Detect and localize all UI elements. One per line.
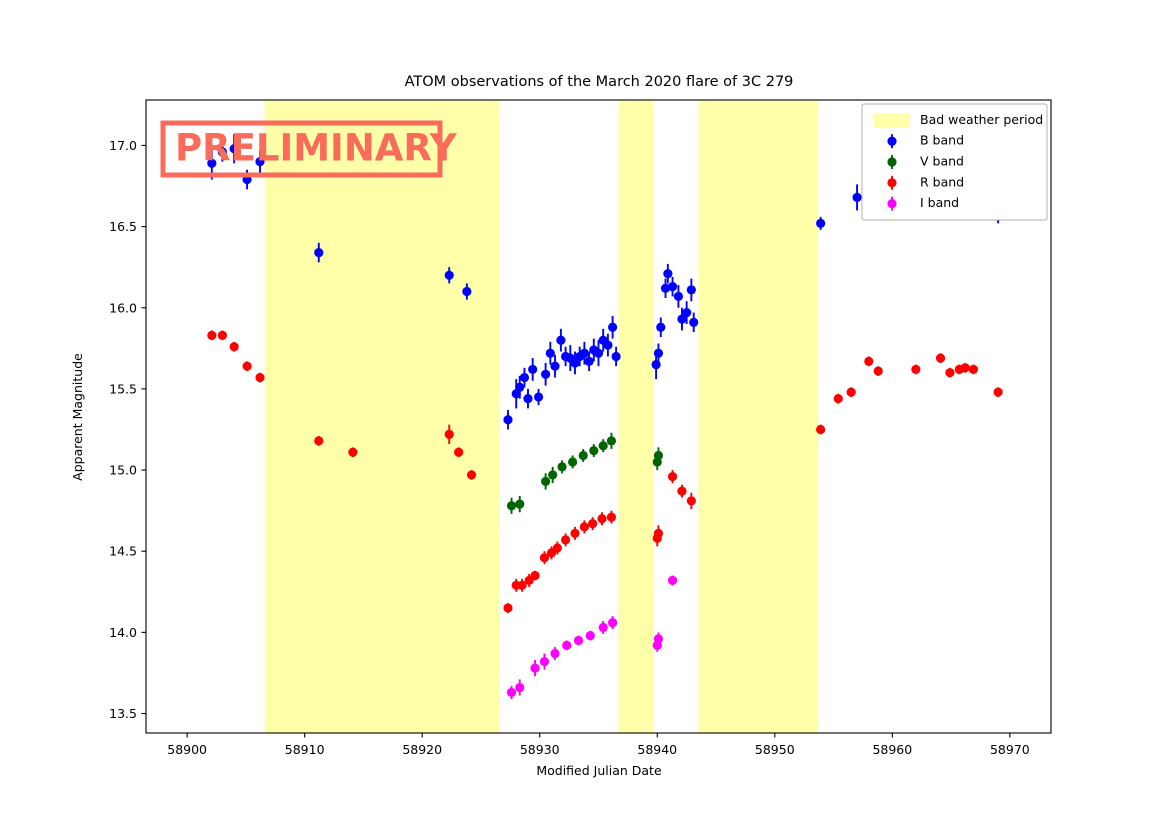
x-tick-label: 58940 (637, 742, 677, 757)
data-point (936, 353, 945, 362)
data-point (911, 365, 920, 374)
legend-marker-icon (887, 199, 896, 208)
data-point (687, 285, 696, 294)
y-tick-label: 14.5 (109, 544, 137, 559)
data-point (654, 529, 663, 538)
data-point (550, 649, 559, 658)
data-point (574, 636, 583, 645)
data-point (608, 323, 617, 332)
data-point (961, 363, 970, 372)
data-point (847, 388, 856, 397)
legend-item-bad-weather-period[interactable]: Bad weather period (874, 112, 1043, 128)
x-tick-label: 58930 (520, 742, 560, 757)
data-point (668, 472, 677, 481)
data-point (530, 571, 539, 580)
data-point (546, 349, 555, 358)
watermark-label: PRELIMINARY (175, 127, 458, 170)
bad-weather-span-1 (265, 100, 500, 733)
data-point (654, 451, 663, 460)
data-point (608, 618, 617, 627)
x-tick-label: 58970 (990, 742, 1030, 757)
data-point (599, 441, 608, 450)
data-point (207, 331, 216, 340)
legend-label: V band (920, 154, 964, 169)
legend-label: B band (920, 133, 964, 148)
y-tick-label: 14.0 (109, 625, 137, 640)
legend-marker-icon (887, 137, 896, 146)
data-point (588, 519, 597, 528)
data-point (816, 219, 825, 228)
scatter-plot: 5890058910589205893058940589505896058970… (0, 0, 1169, 827)
data-point (603, 340, 612, 349)
data-point (507, 688, 516, 697)
data-point (682, 308, 691, 317)
data-point (945, 368, 954, 377)
data-point (654, 349, 663, 358)
data-point (654, 634, 663, 643)
data-point (445, 271, 454, 280)
legend-label: I band (920, 195, 959, 210)
data-point (523, 394, 532, 403)
data-point (674, 292, 683, 301)
x-tick-label: 58960 (872, 742, 912, 757)
data-point (348, 448, 357, 457)
legend: Bad weather periodB bandV bandR bandI ba… (862, 104, 1047, 220)
data-point (599, 623, 608, 632)
data-point (612, 352, 621, 361)
data-point (530, 663, 539, 672)
data-point (503, 415, 512, 424)
x-axis-label: Modified Julian Date (536, 763, 662, 778)
y-tick-label: 15.0 (109, 463, 137, 478)
data-point (597, 514, 606, 523)
data-point (864, 357, 873, 366)
legend-marker-icon (887, 178, 896, 187)
data-point (994, 388, 1003, 397)
data-point (314, 436, 323, 445)
legend-swatch-icon (874, 113, 910, 127)
page-title: ATOM observations of the March 2020 flar… (405, 74, 794, 90)
data-point (557, 462, 566, 471)
data-point (556, 336, 565, 345)
data-point (520, 373, 529, 382)
data-point (467, 470, 476, 479)
data-point (540, 657, 549, 666)
bad-weather-span-3 (698, 100, 818, 733)
data-point (586, 631, 595, 640)
y-tick-label: 16.0 (109, 300, 137, 315)
legend-marker-icon (887, 157, 896, 166)
data-point (515, 683, 524, 692)
x-tick-label: 58920 (402, 742, 442, 757)
data-point (668, 282, 677, 291)
data-point (580, 522, 589, 531)
bad-weather-span-2 (618, 100, 653, 733)
data-point (570, 529, 579, 538)
data-point (454, 448, 463, 457)
data-point (689, 318, 698, 327)
data-point (607, 436, 616, 445)
data-point (852, 193, 861, 202)
data-point (589, 446, 598, 455)
data-point (579, 451, 588, 460)
data-point (687, 496, 696, 505)
data-point (550, 362, 559, 371)
data-point (677, 487, 686, 496)
data-point (503, 603, 512, 612)
data-point (594, 349, 603, 358)
data-point (584, 357, 593, 366)
y-tick-label: 13.5 (109, 706, 137, 721)
legend-label: R band (920, 174, 964, 189)
data-point (548, 470, 557, 479)
x-tick-label: 58900 (167, 742, 207, 757)
y-axis-label: Apparent Magnitude (70, 353, 85, 481)
y-tick-label: 17.0 (109, 138, 137, 153)
data-point (553, 543, 562, 552)
data-point (607, 513, 616, 522)
x-tick-label: 58910 (285, 742, 325, 757)
figure-container: 5890058910589205893058940589505896058970… (0, 0, 1169, 827)
data-point (528, 365, 537, 374)
data-point (874, 366, 883, 375)
data-point (242, 362, 251, 371)
y-tick-label: 16.5 (109, 219, 137, 234)
data-point (218, 331, 227, 340)
preliminary-watermark: PRELIMINARY (163, 123, 458, 175)
data-point (462, 287, 471, 296)
data-point (834, 394, 843, 403)
data-point (668, 576, 677, 585)
data-point (568, 457, 577, 466)
legend-label: Bad weather period (920, 112, 1043, 127)
data-point (656, 323, 665, 332)
data-point (445, 430, 454, 439)
data-point (541, 477, 550, 486)
data-point (969, 365, 978, 374)
data-point (562, 641, 571, 650)
data-point (314, 248, 323, 257)
data-point (663, 269, 672, 278)
data-point (580, 349, 589, 358)
y-tick-label: 15.5 (109, 381, 137, 396)
data-point (534, 392, 543, 401)
x-tick-label: 58950 (755, 742, 795, 757)
data-point (230, 342, 239, 351)
data-point (541, 370, 550, 379)
data-point (255, 373, 264, 382)
data-point (561, 535, 570, 544)
data-point (515, 500, 524, 509)
data-point (816, 425, 825, 434)
data-point (515, 383, 524, 392)
data-point (507, 501, 516, 510)
